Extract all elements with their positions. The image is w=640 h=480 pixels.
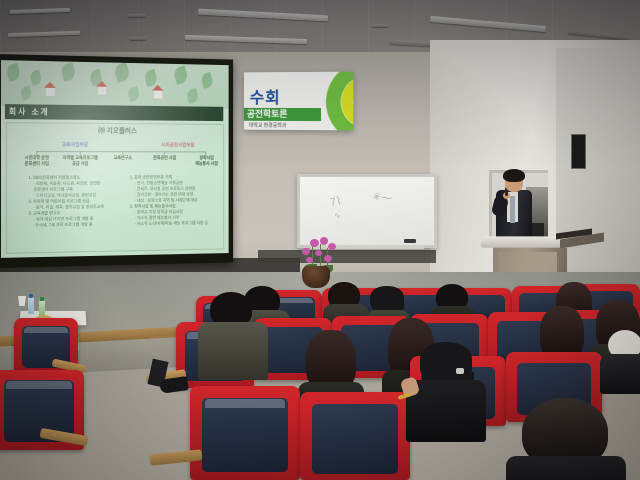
seat-highlight [6,381,72,389]
presenter-hair [503,169,525,182]
torso [198,322,268,380]
marker-pen [404,239,416,243]
bottle-cap [29,294,33,298]
orchid-bloom [306,257,313,263]
paper-cup [18,296,26,306]
lecture-hall-photo: 회사 소개 ㈜ 지오플러스 교육사업부문 사회공헌사업부문 시민대학 운영 문화… [0,0,640,480]
flower-pot [302,266,330,288]
projected-slide: 회사 소개 ㈜ 지오플러스 교육사업부문 사회공헌사업부문 시민대학 운영 문화… [1,60,229,258]
orchid-bloom [310,239,319,247]
seat-pad [202,398,288,472]
wall-speaker [571,134,586,169]
orchid-bloom [328,243,336,250]
banner-subtitle: 공전학토론 [247,108,288,121]
cap-logo [456,368,464,374]
wall-trim-stripe [258,250,436,263]
banner-title: 수회 [250,84,281,108]
banner-footer: 대학교 환경공학과 [249,122,287,129]
projection-screen: 회사 소개 ㈜ 지오플러스 교육사업부문 사회공헌사업부문 시민대학 운영 문화… [0,54,233,268]
bottle-cap [40,297,44,301]
orchid-bloom [324,255,332,262]
seat-highlight [24,327,68,333]
auditorium-seat [190,386,300,480]
event-banner: 수회 공전학토론 대학교 환경공학과 [244,72,353,131]
orchid-bloom [315,250,322,256]
banner-swoosh-logo [293,72,353,131]
ceiling-light-fixture [130,37,146,40]
ceiling-light-fixture [372,24,388,27]
torso [600,354,640,394]
orchid-bloom [302,248,310,255]
marker-residue: 7⌇ [329,194,343,209]
marker-residue: ∿ [334,211,341,220]
ceiling-light-fixture [128,14,146,17]
projector-glare [1,60,229,258]
seat-pad [312,404,398,474]
water-bottle [28,297,34,314]
marker-residue: ✳⁓ [371,190,392,205]
auditorium-seat [300,392,410,480]
presenter-tie [510,196,515,223]
orchid-bloom [320,237,328,245]
seat-highlight [205,399,285,408]
torso [506,456,626,480]
